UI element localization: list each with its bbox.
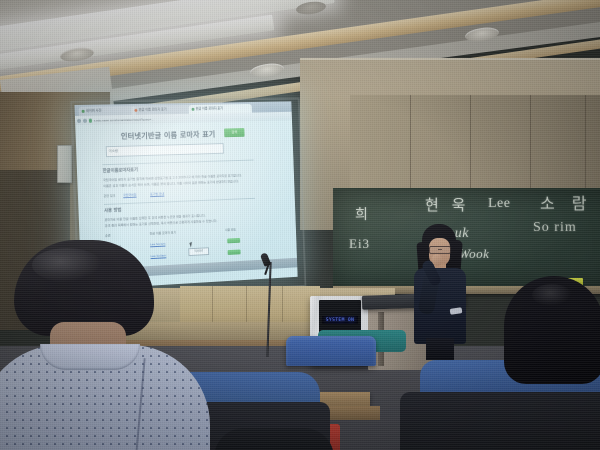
- section-2-heading: 사용 방법: [104, 207, 121, 214]
- audience-head-mid: [214, 428, 334, 450]
- divider: [104, 198, 255, 205]
- table-col-header-2: 한글 이름 로마자 표기: [150, 230, 177, 235]
- blackboard-roman-4: So rim: [533, 220, 577, 236]
- divider: [102, 160, 253, 166]
- favicon-icon: [134, 109, 137, 112]
- lecture-hall-photo: 희 Ei3 현 욱 eonuk Wook Lee 소 람 So rim 네이버 …: [0, 0, 600, 450]
- frequency-bar: [228, 249, 241, 255]
- seat-blue-midright: [286, 336, 376, 366]
- url-text: s.edu.naver.com/romanization/result?quer…: [94, 117, 154, 122]
- reload-icon[interactable]: [83, 118, 87, 122]
- lock-icon: [89, 118, 92, 122]
- search-button[interactable]: 검색: [224, 128, 245, 137]
- wall-speaker-icon: [57, 145, 72, 183]
- audience-member-right: [492, 276, 600, 406]
- search-input[interactable]: 이소람: [106, 143, 224, 157]
- back-arrow-icon[interactable]: [77, 118, 81, 122]
- presenter: [404, 224, 476, 344]
- audience-left-hair-sheen: [32, 248, 102, 282]
- blackboard-roman-lee: Lee: [488, 196, 510, 212]
- favicon-icon: [192, 108, 195, 111]
- audience-right-hair-sheen: [532, 284, 572, 306]
- table-col-header-1: 순번: [105, 233, 111, 237]
- page-title: 인터넷기반글 이름 로마자 표기: [121, 129, 216, 142]
- av-rack-led-display: SYSTEM ON: [322, 316, 358, 324]
- favicon-icon: [82, 110, 85, 113]
- audience-left-collar: [40, 344, 140, 370]
- blackboard-hangul-3: 소 람: [540, 190, 593, 214]
- glasses-icon: [429, 246, 451, 254]
- table-col-header-3: 사용 빈도: [225, 228, 236, 232]
- browser-tab-label: 네이버 사전: [86, 107, 102, 116]
- audience-member-left: [0, 240, 208, 450]
- related-link-0[interactable]: 국립국어원: [123, 193, 137, 197]
- section-1-label: 관련 링크: [104, 194, 116, 198]
- av-rack-led-text: SYSTEM ON: [326, 318, 355, 323]
- blackboard-roman-1: Ei3: [349, 236, 370, 252]
- blackboard-hangul-1: 희: [355, 204, 368, 224]
- presenter-lower-body: [426, 338, 454, 360]
- frequency-bar: [227, 238, 240, 243]
- related-link-1[interactable]: 표기법 안내: [150, 192, 164, 196]
- blackboard-hangul-2: 현 욱: [425, 194, 469, 215]
- section-1-heading: 한글이름로마자표기: [103, 167, 139, 174]
